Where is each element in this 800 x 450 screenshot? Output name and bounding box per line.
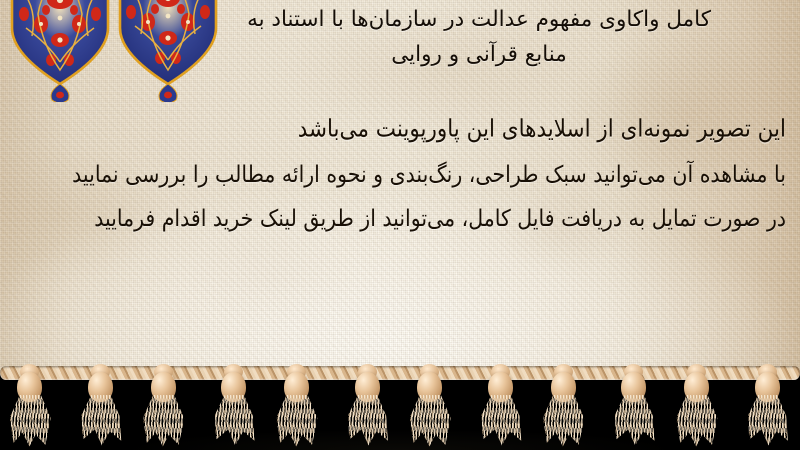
tassel: [3, 362, 59, 450]
tassel-strands: [275, 395, 319, 447]
tassel: [537, 362, 593, 450]
tassel: [74, 362, 130, 450]
slide-title-line-1: کامل واکاوی مفهوم عدالت در سازمان‌ها با …: [247, 7, 711, 32]
tassel-strands: [746, 395, 790, 447]
tassel: [474, 362, 530, 450]
tassel: [741, 362, 797, 450]
tassel-strands: [612, 395, 656, 447]
tassel-strands: [479, 395, 523, 447]
tassel-fringe-border: [0, 362, 800, 450]
tassel: [207, 362, 263, 450]
tassel: [137, 362, 193, 450]
presentation-slide: کامل واکاوی مفهوم عدالت در سازمان‌ها با …: [0, 0, 800, 450]
body-line-2: با مشاهده آن می‌توانید سبک طراحی، رنگ‌بن…: [14, 149, 786, 198]
body-line-1: این تصویر نمونه‌ای از اسلایدهای این پاور…: [14, 105, 786, 154]
tassel: [670, 362, 726, 450]
tassel: [341, 362, 397, 450]
tassel-strands: [675, 395, 719, 447]
slide-body-text: این تصویر نمونه‌ای از اسلایدهای این پاور…: [14, 108, 786, 240]
body-line-3: در صورت تمایل به دریافت فایل کامل، می‌تو…: [14, 193, 786, 242]
tassel-strands: [79, 395, 123, 447]
tassel-strands: [212, 395, 256, 447]
tassel-strands: [408, 395, 452, 447]
tassel: [607, 362, 663, 450]
slide-title: کامل واکاوی مفهوم عدالت در سازمان‌ها با …: [174, 2, 784, 72]
tassel-strands: [142, 395, 186, 447]
tassel-strands: [542, 395, 586, 447]
tassel-strands: [346, 395, 390, 447]
tassel: [270, 362, 326, 450]
tassel: [403, 362, 459, 450]
slide-title-line-2: منابع قرآنی و روایی: [174, 37, 784, 72]
tassel-strands: [8, 395, 52, 447]
tazhib-medallion-icon: [8, 0, 112, 102]
